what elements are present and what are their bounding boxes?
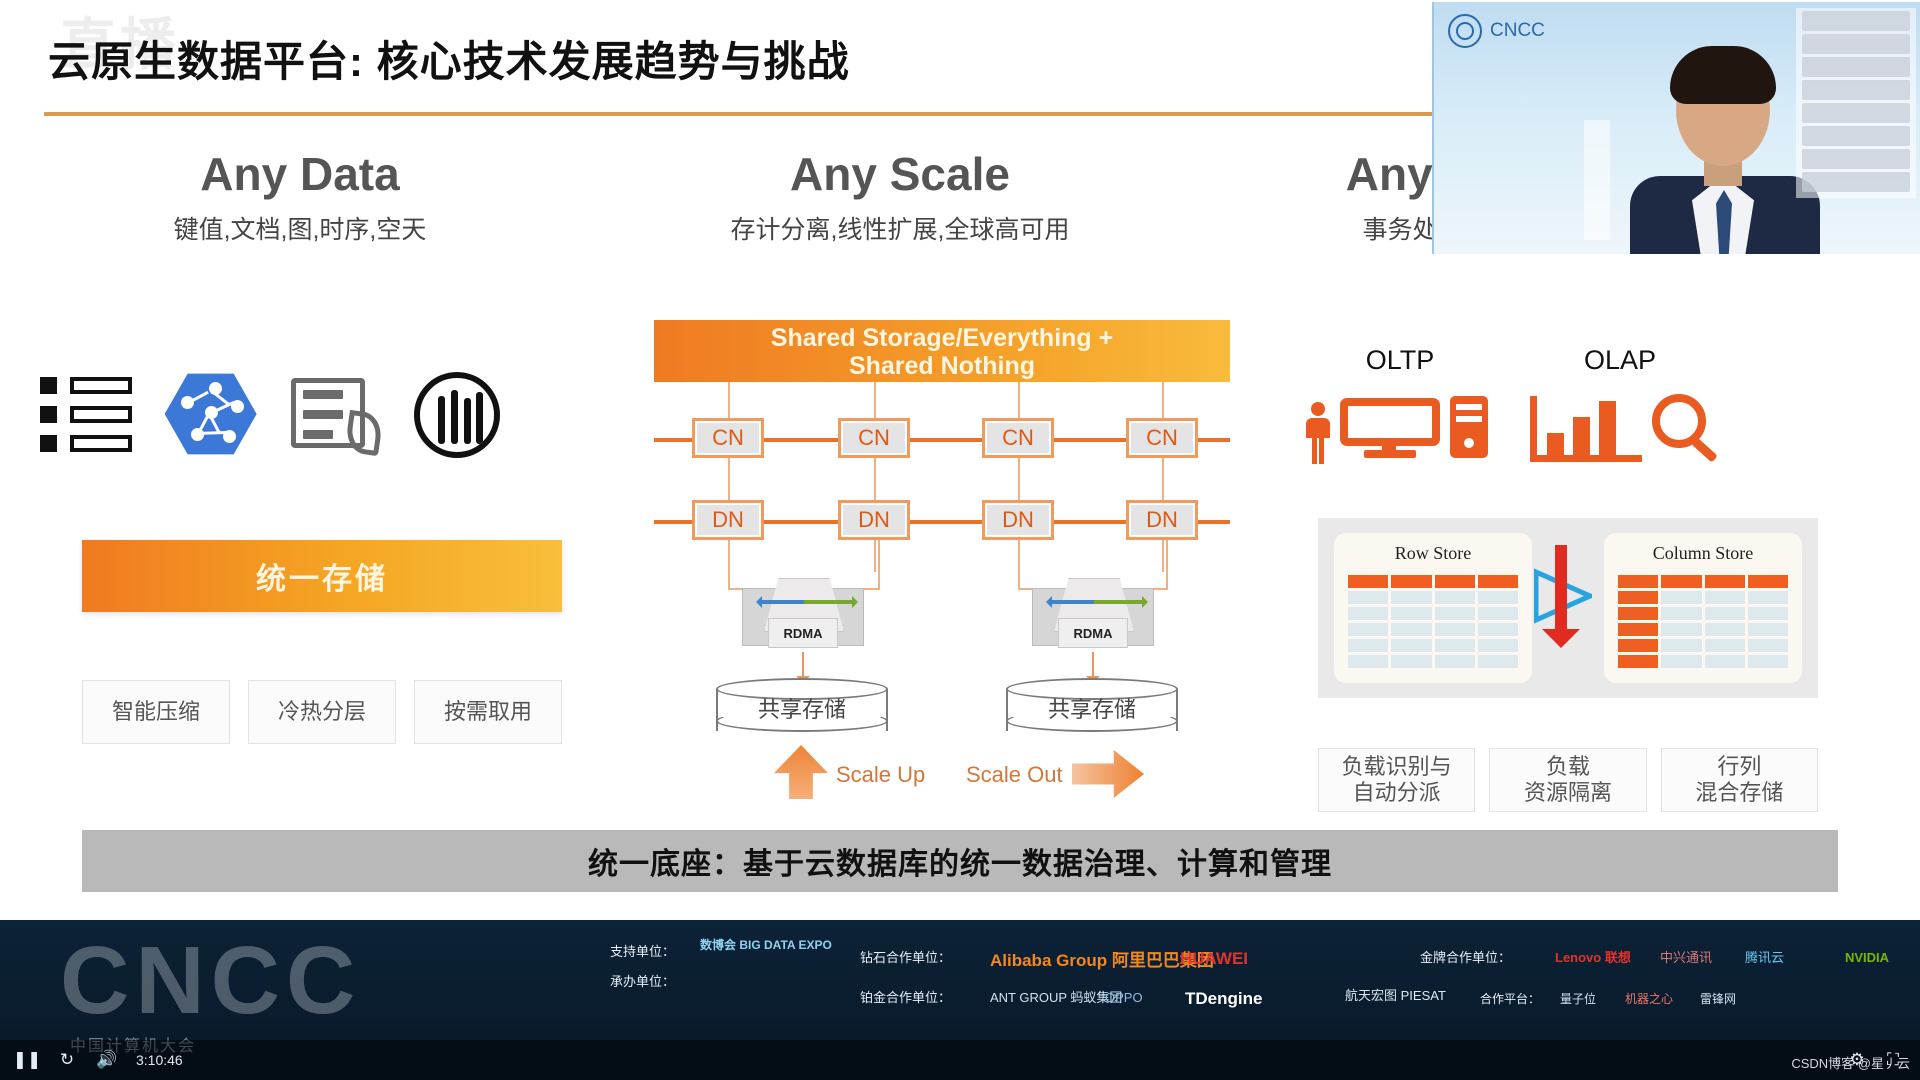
replay-icon[interactable]: ↻ [56, 1049, 78, 1071]
rdma-arrow-in-1 [758, 600, 810, 604]
chip-resource-isolation: 负载 资源隔离 [1489, 748, 1646, 812]
olap-icon-group [1520, 388, 1730, 466]
rdma-arrow-in-2 [1048, 600, 1100, 604]
column-subtitle: 存计分离,线性扩展,全球高可用 [640, 210, 1160, 246]
cncc-brand-text: CNCC [1490, 20, 1545, 42]
storage-arrow-1 [802, 652, 804, 680]
shared-banner-line1: Shared Storage/Everything + [654, 324, 1230, 352]
sponsor-nvidia: NVIDIA [1845, 948, 1889, 968]
magnifier-icon [1652, 394, 1722, 464]
storage-arrow-2 [1092, 652, 1094, 680]
rdma-arrow-out-1 [804, 600, 852, 604]
scale-out-label: Scale Out [966, 762, 1063, 788]
data-type-icon-row [40, 370, 510, 460]
node-dn-1: DN [692, 500, 764, 540]
chip-on-demand: 按需取用 [414, 680, 562, 744]
monitor-icon [1340, 398, 1440, 456]
cncc-seal-icon [1448, 14, 1482, 48]
time-series-icon [414, 372, 510, 458]
sponsor-platinum-label: 铂金合作单位： [860, 988, 951, 1008]
chip-hybrid-storage: 行列 混合存储 [1661, 748, 1818, 812]
key-value-list-icon [40, 372, 136, 458]
sponsor-lenovo: Lenovo 联想 [1555, 948, 1631, 968]
sponsor-piesat: 航天宏图 PIESAT [1345, 986, 1446, 1006]
sponsor-tdengine: TDengine [1185, 986, 1262, 1012]
sponsor-expo: 数博会 BIG DATA EXPO [700, 936, 832, 954]
scale-up-label: Scale Up [836, 762, 925, 788]
column-store-title: Column Store [1604, 543, 1802, 564]
workload-label-row: OLTP OLAP [1300, 345, 1720, 376]
shared-storage-label-2: 共享存储 [1006, 692, 1178, 724]
user-icon [1304, 402, 1330, 464]
scale-out-arrow-icon [1072, 750, 1144, 798]
node-dn-3: DN [982, 500, 1054, 540]
shared-storage-cylinder-1: 共享存储 [716, 678, 888, 734]
rdma-interconnect-1: RDMA [742, 578, 864, 652]
sponsor-gold-label: 金牌合作单位： [1420, 948, 1511, 968]
server-tower-icon [1450, 396, 1488, 458]
document-store-icon [289, 372, 385, 458]
unified-foundation-bar: 统一底座：基于云数据库的统一数据治理、计算和管理 [82, 830, 1838, 892]
column-any-data: Any Data 键值,文档,图,时序,空天 [40, 150, 560, 246]
row-column-store-panel: Row Store Column Store [1318, 518, 1818, 698]
sponsor-oppo: OPPO [1105, 988, 1143, 1008]
shared-storage-label-1: 共享存储 [716, 692, 888, 724]
rdma-arrow-out-2 [1094, 600, 1142, 604]
column-store-grid [1618, 575, 1788, 671]
shared-banner-line2: Shared Nothing [654, 352, 1230, 380]
pause-icon[interactable]: ❚❚ [16, 1049, 38, 1071]
screen: 直播 云原生数据平台: 核心技术发展趋势与挑战 Any Data 键值,文档,图… [0, 0, 1920, 1080]
oltp-icon-group [1300, 388, 1500, 466]
node-dn-4: DN [1126, 500, 1198, 540]
any-scale-architecture-diagram: Shared Storage/Everything + Shared Nothi… [654, 320, 1234, 780]
any-workload-chip-row: 负载识别与 自动分派 负载 资源隔离 行列 混合存储 [1318, 748, 1818, 812]
rdma-label-1: RDMA [768, 618, 838, 648]
playback-time: 3:10:46 [136, 1052, 183, 1068]
bar-chart-icon [1530, 396, 1642, 462]
sponsor-organizer-label: 承办单位： [610, 972, 675, 992]
rdma-interconnect-2: RDMA [1032, 578, 1154, 652]
backdrop-sponsor-grid [1796, 8, 1916, 198]
player-control-bar[interactable]: ❚❚ ↻ 🔊 3:10:46 ⚙ ⛶ [0, 1040, 1920, 1080]
node-cn-3: CN [982, 418, 1054, 458]
chip-hot-cold-tiering: 冷热分层 [248, 680, 396, 744]
sponsor-leiphone: 雷锋网 [1700, 990, 1736, 1008]
row-store-grid [1348, 575, 1518, 671]
video-footer: CNCC 中国计算机大会 支持单位： 承办单位： 数博会 BIG DATA EX… [0, 920, 1920, 1080]
speaker-video-overlay[interactable]: CNCC [1432, 2, 1920, 254]
chip-workload-detect: 负载识别与 自动分派 [1318, 748, 1475, 812]
column-heading: Any Scale [640, 150, 1160, 198]
column-store-card: Column Store [1604, 533, 1802, 683]
row-store-card: Row Store [1334, 533, 1532, 683]
column-heading: Any Data [40, 150, 560, 198]
sponsor-ant-group: ANT GROUP 蚂蚁集团 [990, 988, 1122, 1008]
sponsor-zte: 中兴通讯 [1660, 948, 1712, 968]
unified-storage-banner: 统一存储 [82, 540, 562, 612]
sponsor-huawei: HUAWEI [1180, 946, 1248, 972]
volume-icon[interactable]: 🔊 [96, 1049, 118, 1071]
workload-label-olap: OLAP [1520, 345, 1720, 376]
footer-watermark: CNCC [60, 926, 361, 1036]
backdrop-tower [1584, 120, 1610, 240]
sponsor-quantum-bit: 量子位 [1560, 990, 1596, 1008]
node-cn-2: CN [838, 418, 910, 458]
sponsor-platform-label: 合作平台： [1480, 990, 1540, 1008]
column-subtitle: 键值,文档,图,时序,空天 [40, 210, 560, 246]
workload-label-oltp: OLTP [1300, 345, 1500, 376]
node-dn-2: DN [838, 500, 910, 540]
sponsor-tencent-cloud: 腾讯云 [1745, 948, 1784, 968]
sponsor-jiqizhixin: 机器之心 [1625, 990, 1673, 1008]
shared-storage-cylinder-2: 共享存储 [1006, 678, 1178, 734]
shared-storage-banner: Shared Storage/Everything + Shared Nothi… [654, 320, 1230, 382]
graph-network-icon [165, 372, 261, 458]
any-data-chip-row: 智能压缩 冷热分层 按需取用 [82, 680, 562, 744]
column-scan-arrow-icon [1555, 545, 1567, 641]
sponsor-diamond-label: 钻石合作单位： [860, 948, 951, 968]
scale-up-arrow-icon [774, 745, 828, 799]
node-cn-4: CN [1126, 418, 1198, 458]
row-store-title: Row Store [1334, 543, 1532, 564]
chip-intelligent-compression: 智能压缩 [82, 680, 230, 744]
speaker-figure [1630, 54, 1820, 254]
column-any-scale: Any Scale 存计分离,线性扩展,全球高可用 [640, 150, 1160, 246]
screenshot-brand-tag: CSDN博客 @星丿云 [1791, 1053, 1910, 1072]
page-title: 云原生数据平台: 核心技术发展趋势与挑战 [48, 28, 850, 89]
node-cn-1: CN [692, 418, 764, 458]
cncc-logo: CNCC [1448, 14, 1545, 48]
rdma-label-2: RDMA [1058, 618, 1128, 648]
sponsor-support-label: 支持单位： [610, 942, 675, 962]
